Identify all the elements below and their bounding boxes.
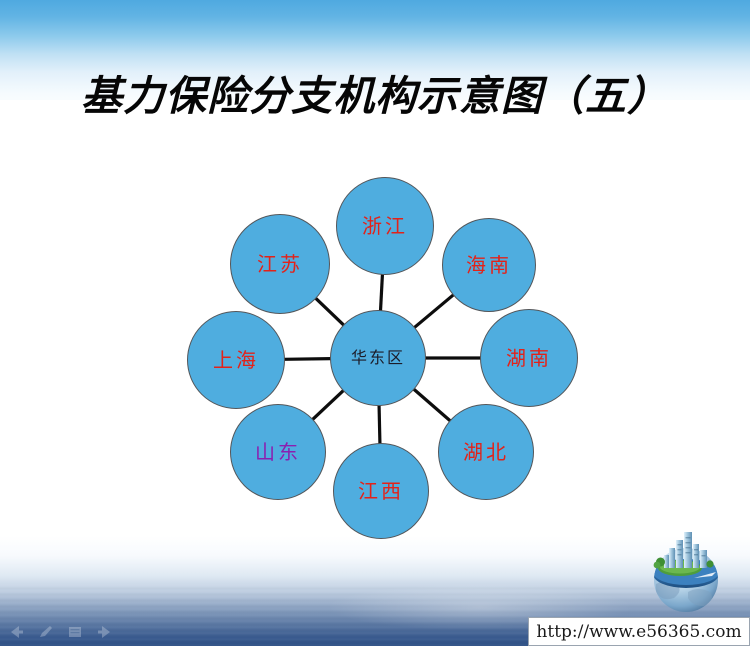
spoke-connector-江西: [379, 405, 380, 444]
branch-node-浙江[interactable]: 浙江: [336, 177, 434, 275]
website-url-text: http://www.e56365.com: [536, 622, 741, 642]
spoke-connector-湖北: [413, 389, 450, 421]
branch-node-湖南[interactable]: 湖南: [480, 309, 578, 407]
org-structure-diagram: 浙江海南湖南湖北江西山东上海江苏华东区: [0, 0, 750, 646]
globe-city-logo: [640, 522, 732, 614]
node-label: 海南: [466, 255, 512, 275]
node-label: 山东: [255, 442, 301, 462]
spoke-connector-海南: [414, 295, 454, 328]
spoke-connector-山东: [312, 390, 344, 420]
node-label: 湖南: [506, 348, 552, 368]
pen-icon[interactable]: [37, 624, 55, 640]
spoke-connector-江苏: [315, 298, 344, 326]
node-label: 浙江: [362, 216, 408, 236]
center-node-华东区[interactable]: 华东区: [330, 310, 426, 406]
branch-node-上海[interactable]: 上海: [187, 311, 285, 409]
node-label: 华东区: [351, 350, 405, 366]
slideshow-controls: [8, 624, 113, 640]
node-label: 湖北: [463, 442, 509, 462]
branch-node-江西[interactable]: 江西: [333, 443, 429, 539]
node-label: 上海: [213, 350, 259, 370]
branch-node-江苏[interactable]: 江苏: [230, 214, 330, 314]
prev-slide-icon[interactable]: [8, 624, 26, 640]
branch-node-海南[interactable]: 海南: [442, 218, 536, 312]
menu-icon[interactable]: [66, 624, 84, 640]
branch-node-湖北[interactable]: 湖北: [438, 404, 534, 500]
website-url-plate[interactable]: http://www.e56365.com: [528, 617, 750, 646]
next-slide-icon[interactable]: [95, 624, 113, 640]
spoke-connector-浙江: [380, 274, 382, 311]
node-label: 江西: [358, 481, 404, 501]
branch-node-山东[interactable]: 山东: [230, 404, 326, 500]
presentation-slide: 基力保险分支机构示意图（五） 浙江海南湖南湖北江西山东上海江苏华东区: [0, 0, 750, 646]
spoke-connector-上海: [284, 359, 331, 360]
node-label: 江苏: [257, 254, 303, 274]
